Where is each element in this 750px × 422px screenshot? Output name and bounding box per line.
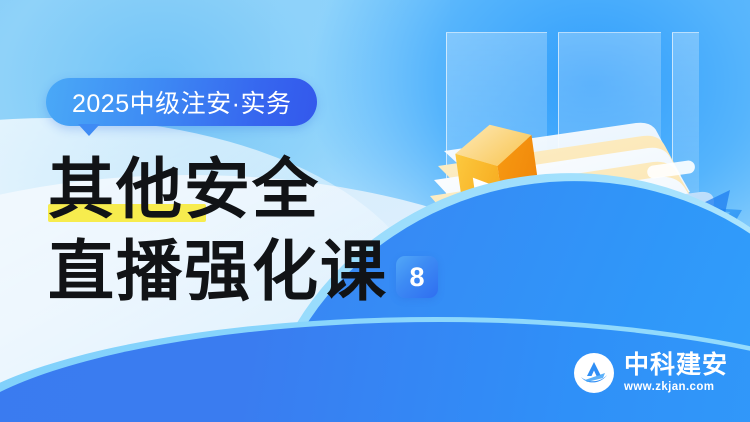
course-badge-label: 2025中级注安·实务: [72, 84, 291, 120]
title-line-2-row: 直播强化课 8: [48, 230, 468, 308]
course-badge: 2025中级注安·实务: [46, 78, 317, 126]
brand-text: 中科建安 www.zkjan.com: [624, 352, 728, 394]
mountain-person-circle-icon: [574, 353, 614, 393]
speech-tail-icon: [78, 124, 100, 136]
episode-badge: 8: [396, 256, 438, 298]
brand-logo: 中科建安 www.zkjan.com: [574, 352, 728, 394]
title-line-2: 直播强化课: [48, 234, 388, 308]
promo-banner: 2025中级注安·实务 其他安全 直播强化课 8 中科建安 www.zkjan.…: [0, 0, 750, 422]
brand-url: www.zkjan.com: [624, 380, 728, 394]
title-line-1: 其他安全: [48, 150, 320, 228]
page-title: 其他安全 直播强化课 8: [48, 152, 468, 308]
brand-name: 中科建安: [624, 352, 728, 379]
title-line-1-row: 其他安全: [48, 152, 468, 230]
course-badge-pill: 2025中级注安·实务: [46, 78, 317, 126]
